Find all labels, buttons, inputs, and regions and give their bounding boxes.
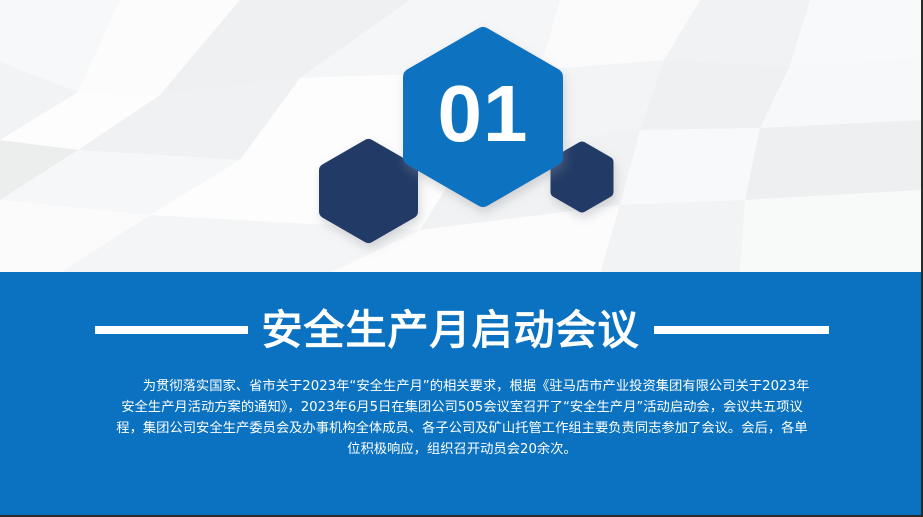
page-title: 安全生产月启动会议 [262,310,640,351]
body-paragraph-text: 为贯彻落实国家、省市关于2023年“安全生产月”的相关要求，根据《驻马店市产业投… [116,379,809,457]
title-rule-right [654,326,829,334]
section-number: 01 [400,30,566,200]
hexagon-navy-large [326,146,411,236]
body-paragraph: 为贯彻落实国家、省市关于2023年“安全生产月”的相关要求，根据《驻马店市产业投… [112,376,812,460]
title-rule-left [95,326,248,334]
body-paragraph-container: 为贯彻落实国家、省市关于2023年“安全生产月”的相关要求，根据《驻马店市产业投… [112,376,812,460]
title-block: 安全生产月启动会议 [0,299,923,361]
presentation-slide: 01 安全生产月启动会议 为贯彻落实国家、省市关于2023年“安全生产月”的相关… [0,0,923,517]
